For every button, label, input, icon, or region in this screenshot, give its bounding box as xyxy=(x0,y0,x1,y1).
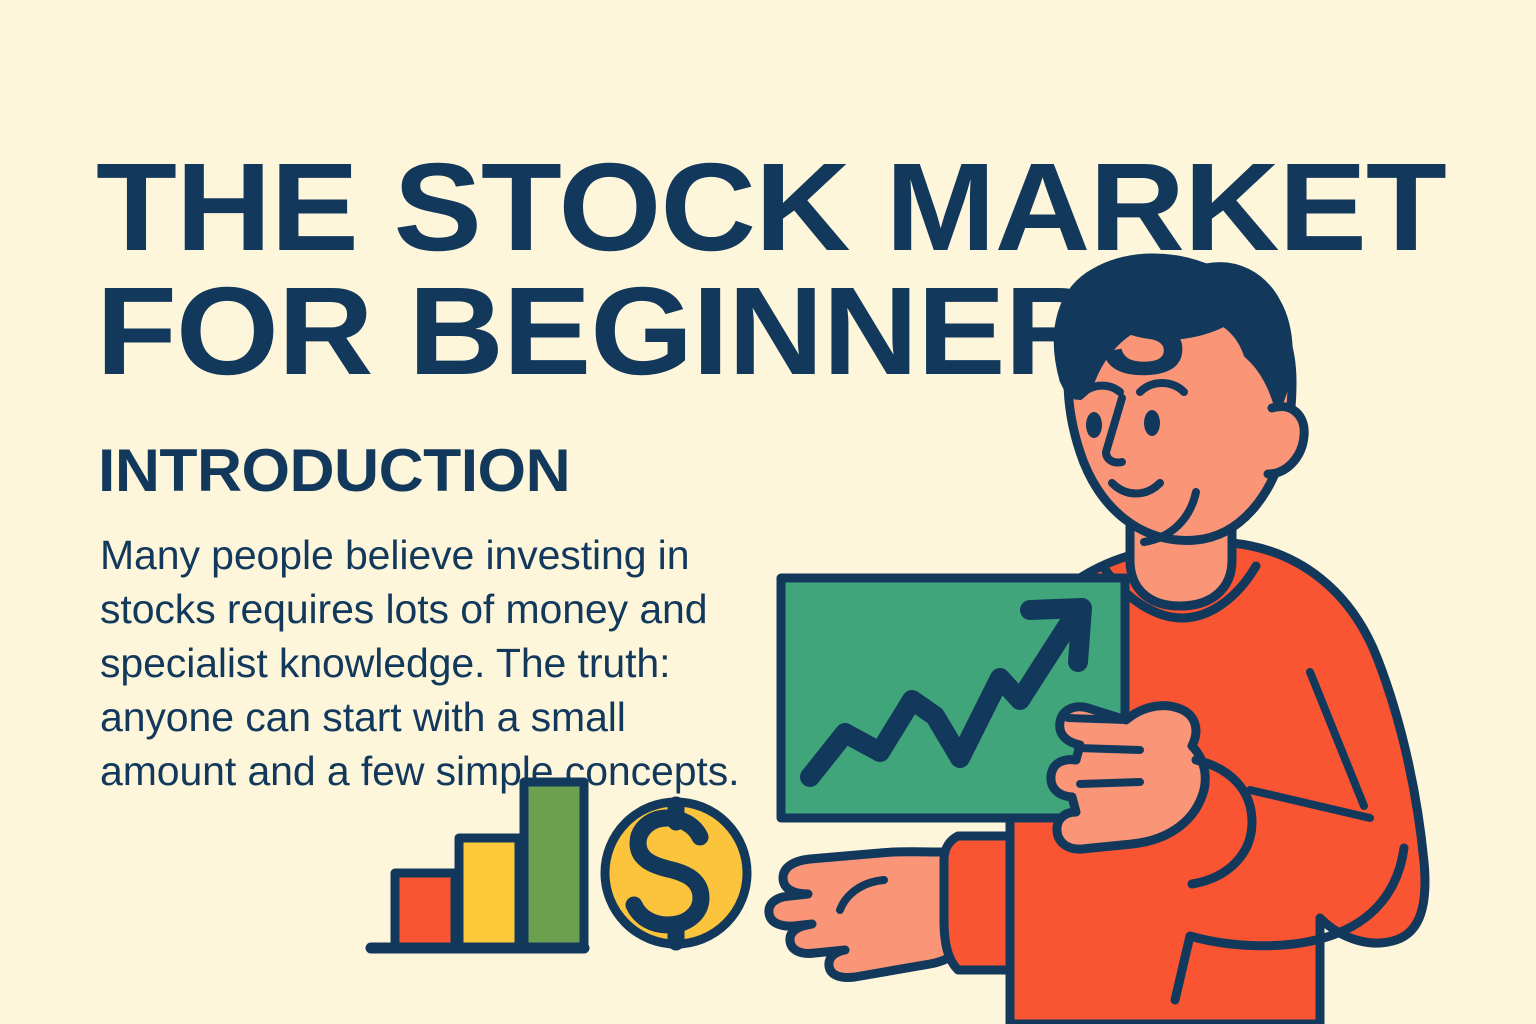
bar-yellow xyxy=(459,838,519,948)
title-line-2: For Beginners xyxy=(96,270,1400,394)
eye-left xyxy=(1086,412,1102,438)
finger-middle xyxy=(1078,748,1140,750)
hand-shape xyxy=(1051,706,1205,849)
title-line-1: The Stock Market xyxy=(96,146,1400,270)
bar-red xyxy=(395,873,455,948)
eye-right xyxy=(1144,410,1160,436)
infographic-poster: The Stock Market For Beginners Introduct… xyxy=(0,0,1536,1024)
dollar-coin-icon xyxy=(605,802,747,944)
finger-ring xyxy=(1080,782,1140,784)
bar-green xyxy=(524,782,584,948)
section-heading: Introduction xyxy=(98,441,570,501)
page-title: The Stock Market For Beginners xyxy=(96,146,1400,394)
finger-index xyxy=(1068,718,1126,720)
section-body-text: Many people believe investing in stocks … xyxy=(100,528,760,799)
